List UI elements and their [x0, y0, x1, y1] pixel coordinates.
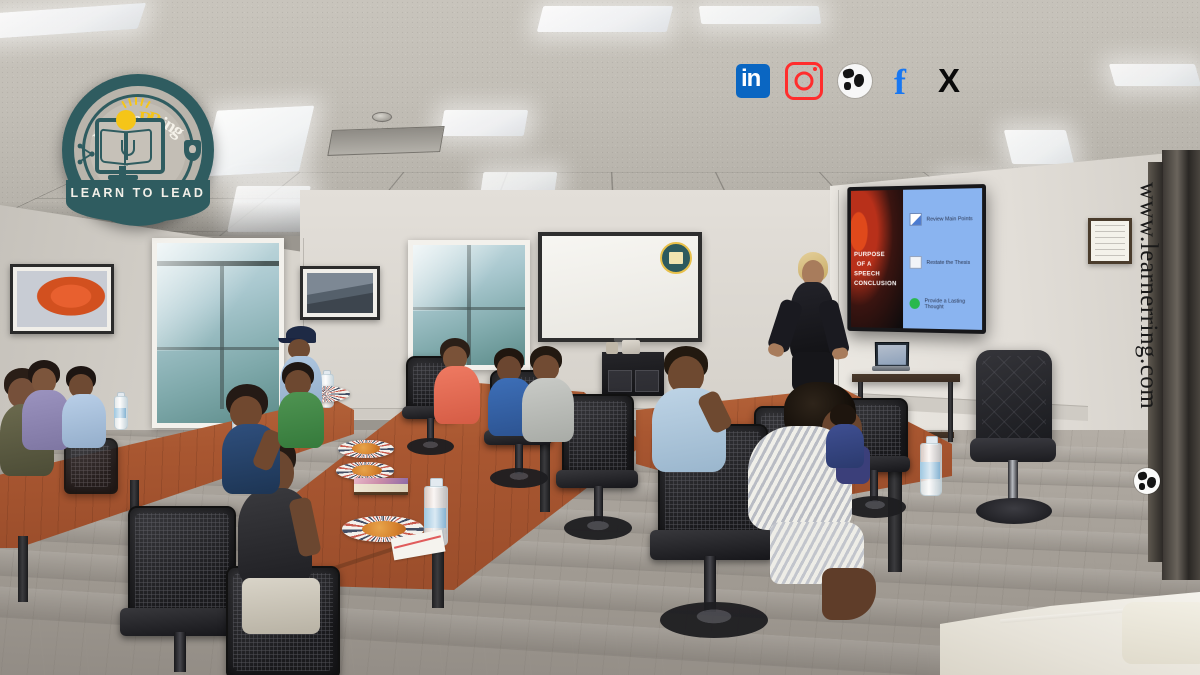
sun-icon: [116, 110, 136, 130]
book-pages: [354, 484, 408, 492]
student: [522, 346, 582, 454]
student-legs: [242, 578, 320, 634]
slide-bullet-text: Provide a Lasting Thought: [925, 298, 978, 311]
instagram-icon[interactable]: [785, 62, 823, 100]
sprout-icon: [121, 140, 135, 156]
green-dot-icon: [910, 298, 920, 309]
student: [278, 362, 332, 458]
globe-landmass: [842, 68, 855, 79]
document-icon: [910, 256, 922, 269]
website-url-watermark: www.learnerring.com: [1134, 182, 1162, 409]
student-torso: [62, 394, 106, 448]
globe-landmass: [844, 82, 851, 90]
facebook-glyph: f: [894, 61, 906, 103]
student: [62, 366, 114, 458]
plate-food: [352, 465, 382, 476]
student: [434, 338, 490, 438]
window-glare: [157, 243, 279, 351]
social-icon-bar: in f X: [736, 62, 970, 100]
framed-helicopter-photo: [10, 264, 114, 334]
console-leg: [948, 382, 953, 442]
student: [650, 346, 742, 496]
certificate-text-lines: [1095, 225, 1125, 257]
plate-food: [352, 443, 380, 454]
chair-base: [407, 438, 454, 455]
doorway[interactable]: [1162, 150, 1200, 580]
bottled-water: [114, 392, 126, 428]
laptop-screen-content: [878, 345, 906, 365]
plate-food: [362, 521, 406, 537]
student-leg-skin: [822, 568, 876, 620]
presenter-laptop[interactable]: [872, 342, 910, 376]
globe-landmass: [1147, 477, 1156, 488]
logo-tagline: LEARN TO LEAD: [71, 186, 206, 200]
logo-sun-ray: [135, 97, 137, 105]
textbook: [354, 478, 408, 495]
laptop-keyboard-base: [872, 366, 910, 371]
slide-bullet: Review Main Points: [910, 212, 978, 226]
presentation-television[interactable]: PURPOSE OF A SPEECH CONCLUSION Review Ma…: [847, 184, 986, 334]
bottle-label: [424, 508, 446, 528]
paper-plate: [338, 440, 394, 458]
student-torso: [278, 392, 324, 448]
globe-landmass: [854, 74, 864, 87]
slide-title-panel: PURPOSE OF A SPEECH CONCLUSION: [851, 190, 903, 328]
shield-icon: [184, 140, 201, 161]
chair-seat: [970, 438, 1056, 462]
student-torso: [826, 424, 864, 468]
slide-bullet: Provide a Lasting Thought: [910, 298, 978, 311]
tissue-box: [622, 340, 640, 354]
chair-base: [976, 498, 1052, 524]
student-hair: [830, 404, 856, 426]
framed-osprey-aircraft-photo: [300, 266, 380, 320]
slide-title-line: SPEECH: [854, 270, 872, 279]
logo-tagline-banner: LEARN TO LEAD: [66, 180, 210, 222]
table-leg: [18, 536, 28, 602]
slide-content-panel: Review Main Points Restate the Thesis Pr…: [903, 188, 982, 330]
ceiling-light-panel: [1109, 64, 1200, 86]
slide-title-line: PURPOSE OF A: [854, 251, 872, 270]
open-book-icon: [100, 130, 152, 160]
student: [826, 404, 870, 474]
ceiling-light-panel: [537, 6, 673, 32]
globe-landmass: [1137, 471, 1147, 481]
x-twitter-icon[interactable]: X: [936, 64, 970, 98]
window-glare: [413, 245, 525, 311]
laptop-screen: [875, 342, 909, 368]
chair-base: [490, 468, 548, 488]
linkedin-glyph: in: [741, 65, 760, 93]
instagram-lens: [795, 72, 814, 91]
ceiling-light-panel: [202, 106, 315, 177]
cabinet-door[interactable]: [608, 370, 632, 392]
helicopter-photo-image: [17, 271, 107, 327]
student-torso: [522, 378, 574, 442]
chair-gas-cylinder: [174, 632, 186, 672]
globe-landmass: [1139, 483, 1145, 490]
smoke-detector-icon: [372, 112, 392, 122]
learnerring-logo-badge: L e a r n e R R i n g: [62, 74, 214, 226]
chair-base: [564, 516, 632, 540]
chair-mesh: [135, 513, 229, 615]
student-torso: [434, 366, 480, 424]
slide-title: PURPOSE OF A SPEECH CONCLUSION: [854, 251, 872, 289]
bottle-label: [920, 462, 940, 479]
slide-bullet-text: Review Main Points: [926, 216, 972, 223]
instagram-dot: [813, 67, 817, 71]
bottle-label: [114, 408, 126, 418]
ceiling-air-vent: [327, 126, 444, 156]
supply-cup: [606, 342, 618, 354]
classroom-photo-scene: PURPOSE OF A SPEECH CONCLUSION Review Ma…: [0, 0, 1200, 675]
ceiling-light-panel: [481, 172, 558, 192]
osprey-photo-image: [307, 273, 373, 313]
website-globe-icon[interactable]: [838, 64, 872, 98]
ceiling-light-panel: [440, 110, 529, 136]
accent-swivel-chair[interactable]: [968, 350, 1060, 526]
ceiling-light-panel: [1004, 130, 1074, 164]
globe-icon: [1134, 468, 1160, 494]
ceiling-light-panel: [699, 6, 822, 24]
network-node-icon: [76, 142, 96, 166]
slide-title-line: CONCLUSION: [854, 279, 872, 289]
chart-icon: [910, 213, 922, 226]
whiteboard: [538, 232, 702, 342]
framed-certificate: [1088, 218, 1132, 264]
facebook-icon[interactable]: f: [887, 64, 921, 98]
x-glyph: X: [938, 62, 960, 100]
chair-quilt-pattern: [982, 356, 1046, 440]
foreground-cushion: [1122, 602, 1200, 664]
napkin-stripe: [394, 535, 441, 549]
slide-bullet-text: Restate the Thesis: [926, 260, 970, 266]
whiteboard-logo-decal: [660, 242, 692, 274]
linkedin-icon[interactable]: in: [736, 64, 770, 98]
slide-bullet: Restate the Thesis: [910, 256, 978, 269]
chair-backrest: [976, 350, 1052, 446]
bottled-water: [920, 436, 940, 494]
